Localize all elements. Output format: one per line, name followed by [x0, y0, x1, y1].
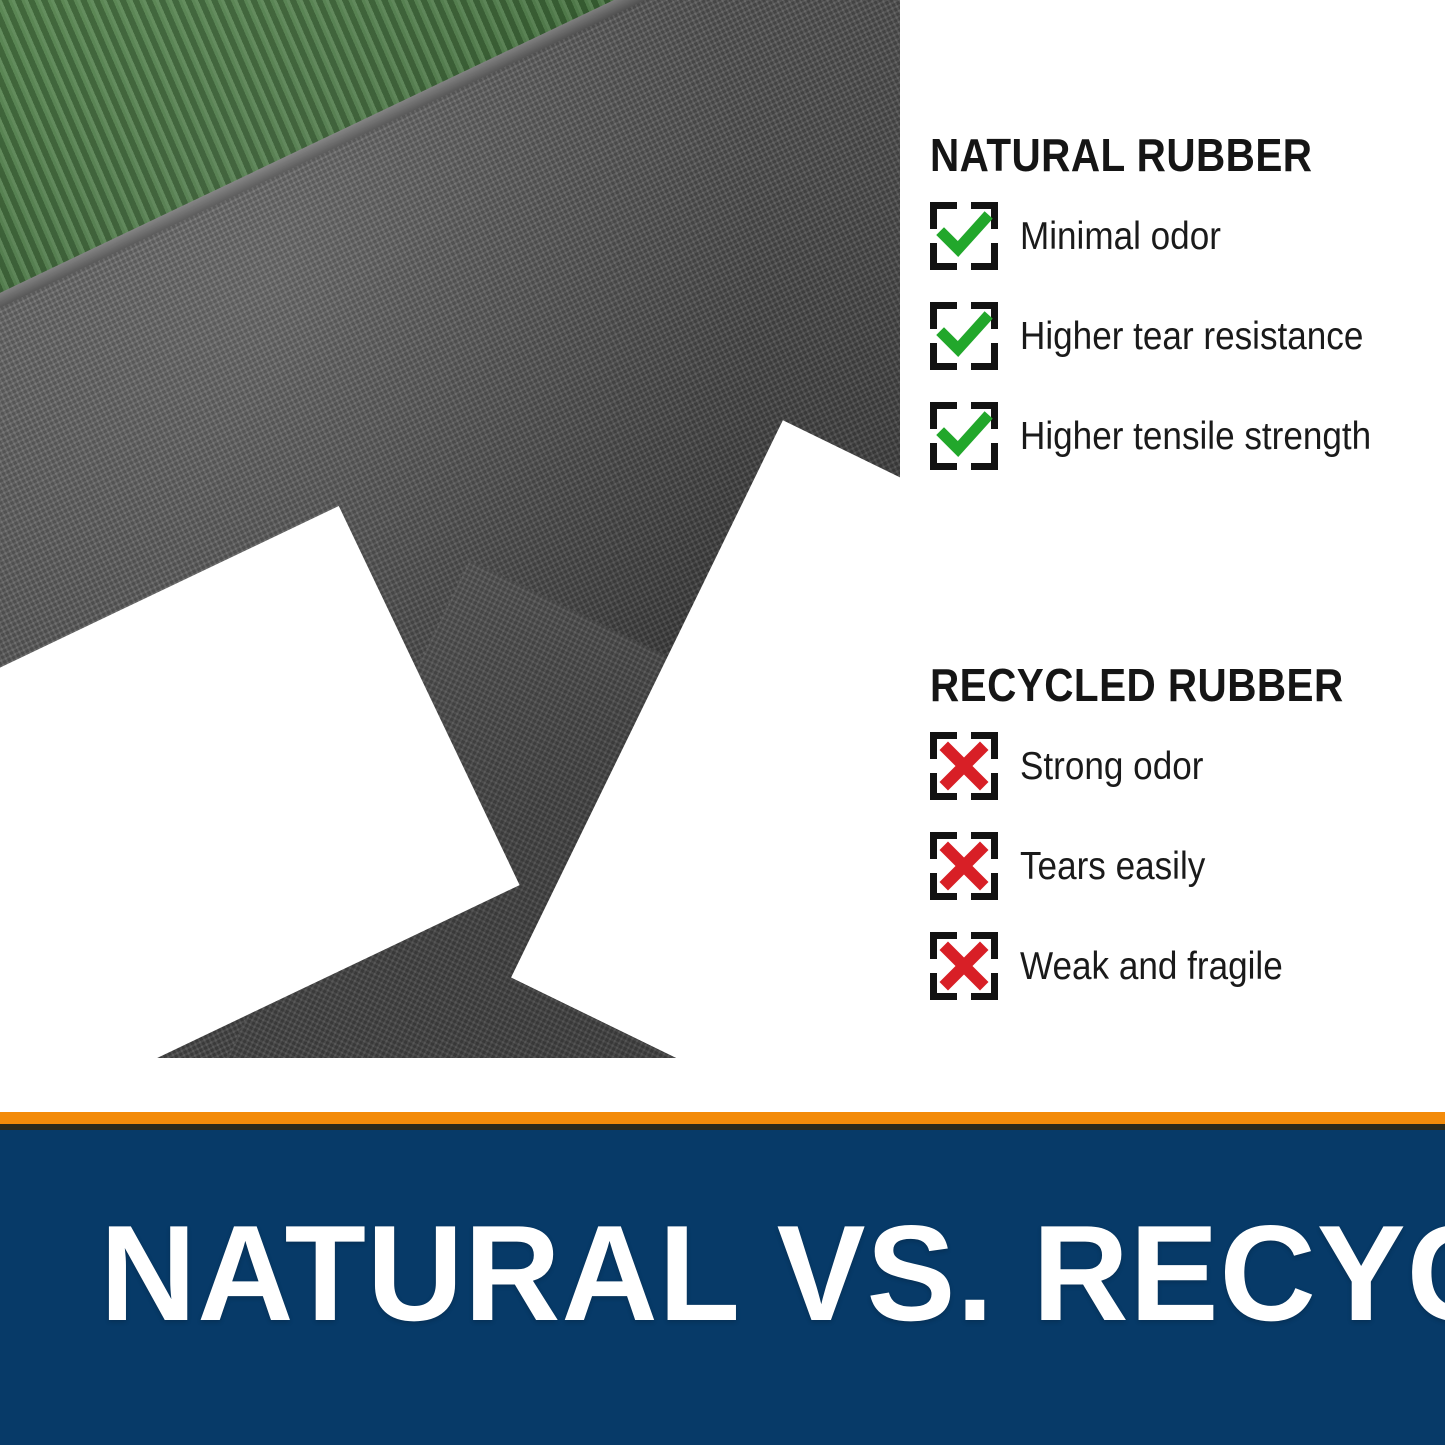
feature-row: Strong odor: [930, 732, 1430, 800]
feature-label: Higher tensile strength: [1020, 417, 1371, 456]
cross-glyph: [930, 732, 998, 800]
feature-label: Higher tear resistance: [1020, 317, 1363, 356]
feature-row: Tears easily: [930, 832, 1430, 900]
cross-glyph: [930, 832, 998, 900]
cross-icon: [930, 932, 998, 1000]
cross-glyph: [930, 932, 998, 1000]
feature-label: Weak and fragile: [1020, 947, 1283, 986]
feature-label: Strong odor: [1020, 747, 1203, 786]
photo-mask-bottom: [0, 1058, 900, 1112]
feature-panel: NATURAL RUBBER Minimal odor: [900, 0, 1445, 1112]
checkmark-glyph: [930, 202, 998, 270]
check-icon: [930, 202, 998, 270]
feature-row: Higher tear resistance: [930, 302, 1430, 370]
section-title-recycled-rubber: RECYCLED RUBBER: [930, 662, 1370, 708]
feature-label: Minimal odor: [1020, 217, 1221, 256]
feature-row: Minimal odor: [930, 202, 1430, 270]
check-icon: [930, 302, 998, 370]
product-photo: [0, 0, 900, 1112]
accent-stripe-orange: [0, 1112, 1445, 1124]
cross-icon: [930, 732, 998, 800]
infographic-page: NATURAL RUBBER Minimal odor: [0, 0, 1445, 1445]
cross-icon: [930, 832, 998, 900]
feature-list-natural-rubber: Minimal odor Higher tear resistance: [930, 202, 1430, 470]
banner-headline: NATURAL VS. RECYCLED: [100, 1205, 1374, 1341]
feature-label: Tears easily: [1020, 847, 1205, 886]
check-icon: [930, 402, 998, 470]
checkmark-glyph: [930, 302, 998, 370]
section-recycled-rubber: RECYCLED RUBBER Strong odor: [930, 662, 1430, 1032]
section-title-natural-rubber: NATURAL RUBBER: [930, 132, 1370, 178]
section-natural-rubber: NATURAL RUBBER Minimal odor: [930, 132, 1430, 502]
feature-row: Higher tensile strength: [930, 402, 1430, 470]
feature-row: Weak and fragile: [930, 932, 1430, 1000]
feature-list-recycled-rubber: Strong odor Tears easily: [930, 732, 1430, 1000]
checkmark-glyph: [930, 402, 998, 470]
